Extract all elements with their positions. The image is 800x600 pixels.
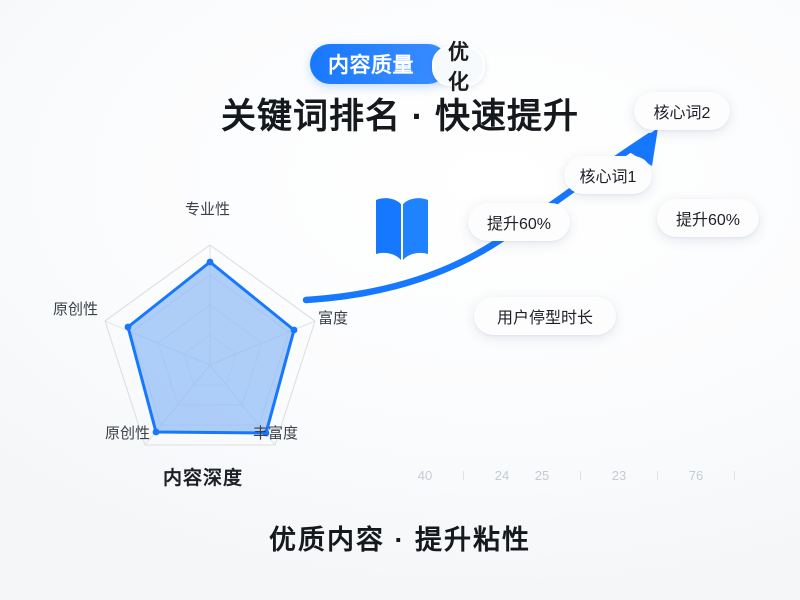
radar-point-4 (125, 324, 132, 331)
mini-axis-divider (580, 471, 581, 480)
mini-axis-divider (734, 471, 735, 480)
annotation-dwell-time[interactable]: 用户停型时长 (474, 297, 616, 335)
radar-series-content (125, 259, 298, 437)
poster-canvas: 内容质量 优化 关键词排名 · 快速提升 优质内容 · 提升粘性 (0, 0, 800, 600)
annotation-uplift-left[interactable]: 提升60% (468, 203, 570, 241)
annotation-keyword2[interactable]: 核心词2 (634, 92, 730, 130)
radar-axis-label-professional: 专业性 (185, 198, 230, 219)
badge-secondary-label: 优化 (432, 46, 485, 86)
radar-axis-label-originality-left: 原创性 (53, 298, 98, 319)
mini-axis-tick-3: 23 (599, 468, 639, 483)
content-quality-badge[interactable]: 内容质量 优化 (310, 44, 448, 84)
mini-axis-tick-0: 40 (405, 468, 445, 483)
radar-axis-label-abundance: 丰富度 (253, 422, 298, 443)
radar-point-0 (207, 259, 214, 266)
mini-axis-tick-1: 24 (482, 468, 522, 483)
mini-axis-divider (463, 471, 464, 480)
radar-point-1 (291, 327, 298, 334)
annotation-uplift-right[interactable]: 提升60% (657, 199, 759, 237)
badge-primary-label: 内容质量 (310, 44, 448, 84)
mini-axis-tick-2: 25 (522, 468, 562, 483)
radar-axis-label-originality-bottom: 原创性 (105, 422, 150, 443)
footer-title: 优质内容 · 提升粘性 (0, 518, 800, 557)
annotation-keyword1[interactable]: 核心词1 (564, 156, 652, 194)
content-depth-label: 内容深度 (163, 463, 243, 490)
mini-axis: 40 24 25 23 76 (405, 462, 785, 488)
mini-axis-divider (657, 471, 658, 480)
radar-point-3 (153, 429, 160, 436)
mini-axis-tick-4: 76 (676, 468, 716, 483)
